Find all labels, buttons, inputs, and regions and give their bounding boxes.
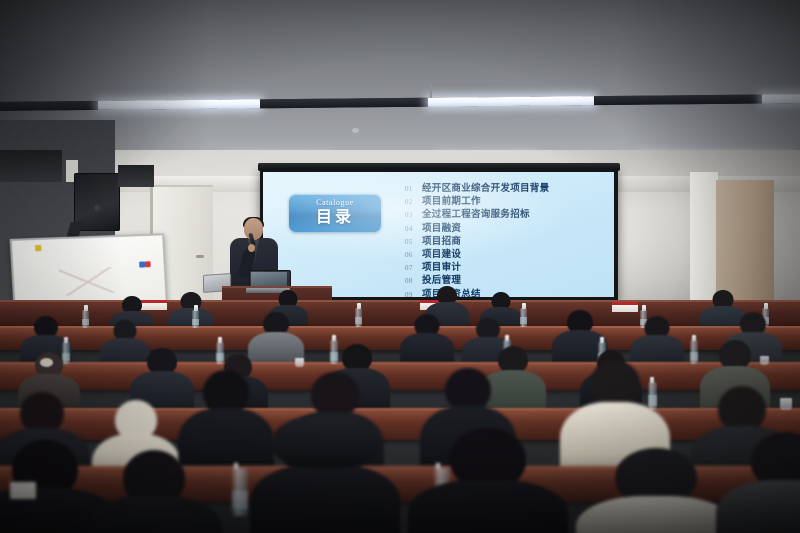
toc-item-text: 项目招商 [422,233,461,247]
toc-item-text: 项目融资 [422,220,461,234]
toc-item-number: 04 [405,225,422,233]
toc-item: 07 项目审计 [405,259,608,272]
water-bottle [82,310,89,328]
toc-item: 04 项目融资 [405,220,608,233]
presenter-hand [248,244,255,252]
toc-item-number: 05 [405,238,422,246]
toc-item-text: 经开区商业综合开发项目背景 [422,180,549,194]
name-card [612,302,638,312]
toc-item-text: 项目建设 [422,246,461,260]
audience-member [576,448,736,533]
audience-member [408,428,568,533]
water-bottle [232,468,248,516]
whiteboard-writing [59,267,116,296]
door-handle[interactable] [196,255,204,258]
laptop-screen [251,272,287,287]
paper-cup [295,358,304,367]
toc-item-number: 01 [405,185,422,193]
toc-item-number: 07 [405,264,422,272]
toc-item: 06 项目建设 [405,246,608,259]
torso [716,480,800,533]
toc-item: 05 项目招商 [405,233,608,246]
slide-content: Catalogue 目录 01 经开区商业综合开发项目背景 02 项目前期工作 … [263,172,614,297]
toc-item-number: 08 [405,277,422,285]
toc-item: 08 投后管理 [405,272,608,285]
name-badge [10,482,36,499]
toc-item-text: 投后管理 [422,272,461,286]
slide-table-of-contents: 01 经开区商业综合开发项目背景 02 项目前期工作 03 全过程工程咨询服务招… [405,180,608,295]
projection-screen: Catalogue 目录 01 经开区商业综合开发项目背景 02 项目前期工作 … [260,168,618,300]
toc-item-number: 03 [405,211,422,219]
water-bottle [520,308,527,327]
light-hanger [430,84,432,98]
toc-item-number: 09 [405,291,422,298]
toc-item: 02 项目前期工作 [405,193,608,206]
catalogue-chinese-label: 目录 [316,209,354,227]
water-bottle [355,308,362,327]
water-bottle [192,310,199,328]
whiteboard-magnet [35,245,42,251]
torso [576,496,736,533]
water-bottle [690,340,698,364]
audience-desk [0,362,800,390]
catalogue-english-label: Catalogue [316,199,354,207]
toc-item: 03 全过程工程咨询服务招标 [405,206,608,219]
beret-hat [272,414,378,468]
toc-item: 01 经开区商业综合开发项目背景 [405,180,608,193]
torso [408,480,568,533]
audience-member [400,314,454,368]
hair-tie [40,358,53,367]
whiteboard-magnet [145,261,151,267]
toc-item-text: 全过程工程咨询服务招标 [422,206,530,220]
wall-panel [118,165,154,187]
smoke-detector [352,128,359,133]
catalogue-badge: Catalogue 目录 [289,194,381,232]
head [590,360,640,408]
torso [86,496,222,533]
audience-member [86,450,222,533]
conference-room-photo: Catalogue 目录 01 经开区商业综合开发项目背景 02 项目前期工作 … [0,0,800,533]
toc-item-text: 项目前期工作 [422,193,481,207]
ceiling-speaker [0,150,62,182]
toc-item-number: 06 [405,251,422,259]
torso [250,464,400,533]
toc-item-text: 项目审计 [422,259,461,273]
toc-item-number: 02 [405,198,422,206]
audience-member [716,432,800,533]
